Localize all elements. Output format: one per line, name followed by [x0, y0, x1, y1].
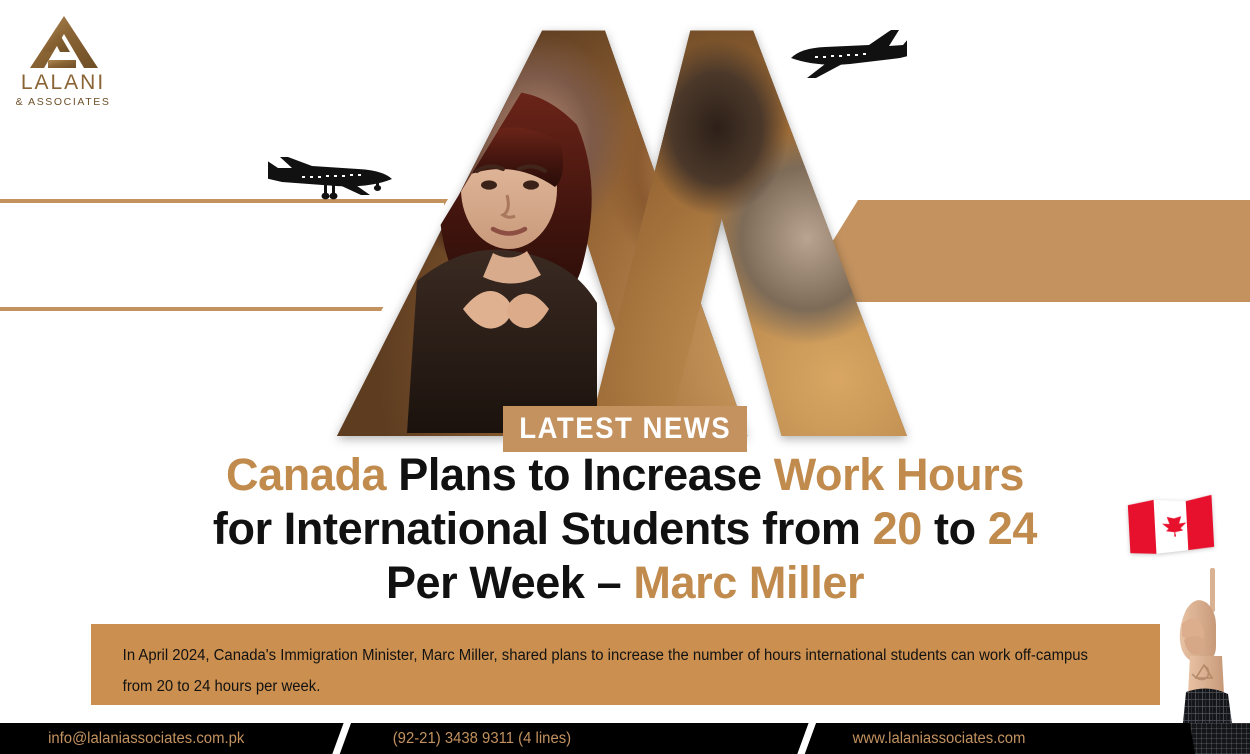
lalani-a-monogram-photo-mask	[337, 18, 907, 436]
news-summary-text: In April 2024, Canada's Immigration Mini…	[91, 624, 1117, 702]
diagonal-slash-divider-icon-2	[795, 723, 829, 754]
contact-footer: info@lalaniassociates.com.pk (92-21) 343…	[0, 723, 1250, 754]
diagonal-slash-divider-icon	[330, 723, 364, 754]
news-graphic-canvas: LALANI & ASSOCIATES	[0, 0, 1250, 754]
headline-line-1: Canada Plans to Increase Work Hours	[0, 448, 1250, 502]
flag-pole-icon	[1210, 568, 1215, 612]
headline-hours-from: 20	[873, 503, 922, 554]
brand-subtitle: & ASSOCIATES	[8, 95, 118, 109]
lalani-triangle-mark-icon	[26, 14, 102, 70]
headline-line-2: for International Students from 20 to 24	[0, 502, 1250, 556]
headline-work-hours: Work Hours	[774, 449, 1024, 500]
footer-website[interactable]: www.lalaniassociates.com	[853, 723, 1026, 754]
plaid-sleeve-overlay	[1186, 723, 1250, 754]
page-title: Canada Plans to Increase Work Hours for …	[0, 448, 1250, 610]
latest-news-badge: LATEST NEWS	[503, 406, 747, 452]
brand-logo: LALANI & ASSOCIATES	[8, 14, 118, 114]
headline-line-3: Per Week – Marc Miller	[0, 556, 1250, 610]
canada-flag-icon	[1125, 493, 1216, 560]
headline-hours-to: 24	[988, 503, 1037, 554]
headline-line2-lead: for International Students from	[213, 503, 873, 554]
brand-wordmark: LALANI & ASSOCIATES	[8, 72, 118, 109]
news-summary-box: In April 2024, Canada's Immigration Mini…	[91, 624, 1160, 705]
footer-email[interactable]: info@lalaniassociates.com.pk	[48, 723, 244, 754]
footer-phone[interactable]: (92-21) 3438 9311 (4 lines)	[393, 723, 571, 754]
headline-line3-lead: Per Week –	[386, 557, 633, 608]
headline-country: Canada	[226, 449, 386, 500]
headline-line2-to: to	[922, 503, 988, 554]
brand-name: LALANI	[8, 72, 118, 94]
headline-minister-name: Marc Miller	[633, 557, 864, 608]
headline-line1-mid: Plans to Increase	[386, 449, 774, 500]
airplane-icon	[785, 28, 907, 80]
latest-news-badge-label: LATEST NEWS	[519, 412, 731, 446]
airplane-landing-icon	[268, 155, 398, 205]
